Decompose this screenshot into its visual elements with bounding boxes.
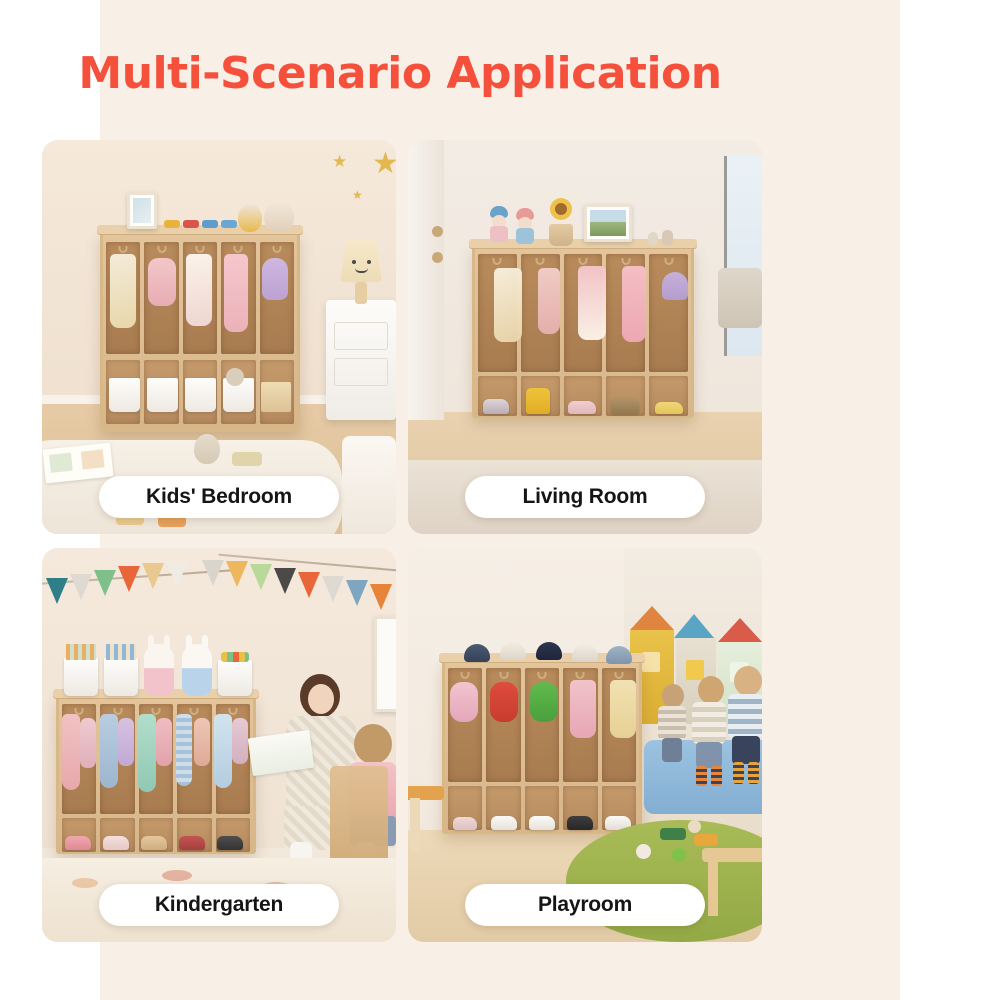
- pink-bunny-plush: [144, 644, 174, 696]
- plush-bear: [264, 202, 294, 232]
- childrens-shoes: [567, 816, 593, 830]
- backpacks: [156, 718, 172, 766]
- bunting-flags: [346, 580, 368, 606]
- toy-cars: [164, 220, 180, 228]
- green-dino-backpack: [530, 682, 558, 722]
- potted-sunflower: [544, 198, 576, 248]
- childrens-shoes: [103, 836, 129, 850]
- scenario-label-pill: Kindergarten: [99, 884, 339, 926]
- pink-jacket: [570, 680, 596, 738]
- pink-slippers: [568, 401, 596, 414]
- yellow-rain-boots: [526, 388, 550, 414]
- doll-blue-hat: [488, 206, 510, 248]
- sneakers: [483, 399, 509, 414]
- childrens-shoes: [179, 836, 205, 850]
- white-door: [408, 140, 444, 420]
- scenario-label-pill: Playroom: [465, 884, 705, 926]
- page-title: Multi-Scenario Application: [0, 48, 800, 99]
- toy-cars: [202, 220, 218, 228]
- scenario-card-living-room[interactable]: Living Room: [408, 140, 762, 534]
- bunting-flags: [250, 564, 272, 590]
- framed-landscape: [584, 204, 632, 242]
- childrens-shoes: [141, 836, 167, 850]
- picture-books: [106, 644, 136, 660]
- scenario-label: Kids' Bedroom: [146, 485, 292, 509]
- sofa: [718, 268, 762, 328]
- scene-photo-kindergarten: [42, 548, 396, 942]
- childrens-shoes: [65, 836, 91, 850]
- toy-cars: [694, 834, 718, 846]
- toy-cars: [660, 828, 686, 840]
- yellow-jacket: [610, 680, 636, 738]
- storage-bins: [147, 378, 178, 412]
- hanging-towel: [110, 254, 136, 328]
- bunting-flags: [370, 584, 392, 610]
- toy-cars: [232, 452, 262, 466]
- gold-wall-stars: ★: [332, 152, 347, 172]
- storage-bins: [185, 378, 216, 412]
- wooden-5-section-locker: [56, 696, 256, 854]
- hanging-towel: [224, 254, 248, 332]
- toddlers-playing: [726, 666, 762, 784]
- hanging-coats: [538, 268, 560, 334]
- scenario-card-playroom[interactable]: Playroom: [408, 548, 762, 942]
- plush: [226, 368, 244, 386]
- bunting-flags: [118, 566, 140, 592]
- scenario-label: Living Room: [523, 485, 648, 509]
- toddlers-playing: [654, 684, 688, 768]
- doll-pink-hat: [514, 208, 536, 248]
- toy-cars: [221, 220, 237, 228]
- scenario-label: Kindergarten: [155, 893, 283, 917]
- bunting-flags: [166, 561, 188, 587]
- bunting-flags: [226, 561, 248, 587]
- bunting-flags: [70, 574, 92, 600]
- unicorn-backpack: [450, 682, 478, 722]
- childrens-shoes: [217, 836, 243, 850]
- wall-poster: [374, 616, 396, 712]
- backpacks: [194, 718, 210, 766]
- backpacks: [118, 718, 134, 766]
- childrens-shoes: [491, 816, 517, 830]
- wooden-5-section-locker: [472, 246, 694, 418]
- storage-bins: [104, 658, 138, 696]
- bunting-flags: [142, 563, 164, 589]
- bunting-flags: [202, 560, 224, 586]
- backpacks: [232, 718, 248, 764]
- pink-backpack: [148, 258, 176, 306]
- bunting-flags: [94, 570, 116, 596]
- playhouse: [718, 618, 762, 642]
- picture-books: [66, 644, 96, 660]
- hanging-coats: [494, 268, 522, 342]
- gold-wall-stars: ★: [352, 188, 363, 202]
- gold-wall-stars: ★: [372, 146, 396, 181]
- playhouse: [674, 614, 714, 638]
- yellow-sandals: [655, 402, 683, 414]
- purple-hat: [662, 272, 688, 300]
- children-coats: [62, 714, 80, 790]
- building-blocks-bin: [218, 660, 252, 696]
- blue-bunny-plush: [182, 644, 212, 696]
- wooden-5-section-locker: [442, 660, 642, 834]
- scenario-label-pill: Kids' Bedroom: [99, 476, 339, 518]
- purple-hat: [262, 258, 288, 300]
- children-coats: [214, 714, 232, 788]
- scenario-card-kids-bedroom[interactable]: ★ ★ ★: [42, 140, 396, 534]
- scenario-label: Playroom: [538, 893, 632, 917]
- backpacks: [80, 718, 96, 768]
- bunting-flags: [298, 572, 320, 598]
- open-picture-book: [42, 443, 113, 484]
- children-coats: [176, 714, 192, 786]
- childrens-shoes: [529, 816, 555, 830]
- scenario-card-kindergarten[interactable]: Kindergarten: [42, 548, 396, 942]
- hanging-coats: [578, 266, 606, 340]
- storage-bins: [109, 378, 140, 412]
- toy-house-blocks: [261, 382, 291, 412]
- scene-photo-living-room: [408, 140, 762, 534]
- playhouse: [630, 606, 674, 630]
- wooden-5-section-locker: [100, 232, 300, 432]
- framed-picture: [127, 192, 157, 229]
- smiley-lamp: [340, 240, 382, 282]
- product-infographic: Multi-Scenario Application ★ ★ ★: [0, 0, 1000, 1000]
- plush-bear: [194, 434, 220, 464]
- hanging-towel: [186, 254, 212, 326]
- hanging-coats: [622, 266, 646, 342]
- bunting-flags: [46, 578, 68, 604]
- red-bear-backpack: [490, 682, 518, 722]
- white-nightstand: [326, 300, 396, 420]
- wooden-stool: [410, 798, 420, 852]
- scenario-label-pill: Living Room: [465, 476, 705, 518]
- scene-photo-playroom: [408, 548, 762, 942]
- toy-cars: [183, 220, 199, 228]
- storage-bins: [64, 658, 98, 696]
- scenario-grid: ★ ★ ★: [42, 140, 762, 942]
- scene-photo-kids-bedroom: ★ ★ ★: [42, 140, 396, 534]
- bunting-flags: [322, 576, 344, 602]
- brown-shoes: [611, 398, 639, 414]
- children-coats: [100, 714, 118, 788]
- bunting-flags: [274, 568, 296, 594]
- toddlers-playing: [690, 676, 728, 786]
- plush-duck: [238, 204, 262, 232]
- children-coats: [138, 714, 156, 792]
- childrens-shoes: [453, 817, 477, 830]
